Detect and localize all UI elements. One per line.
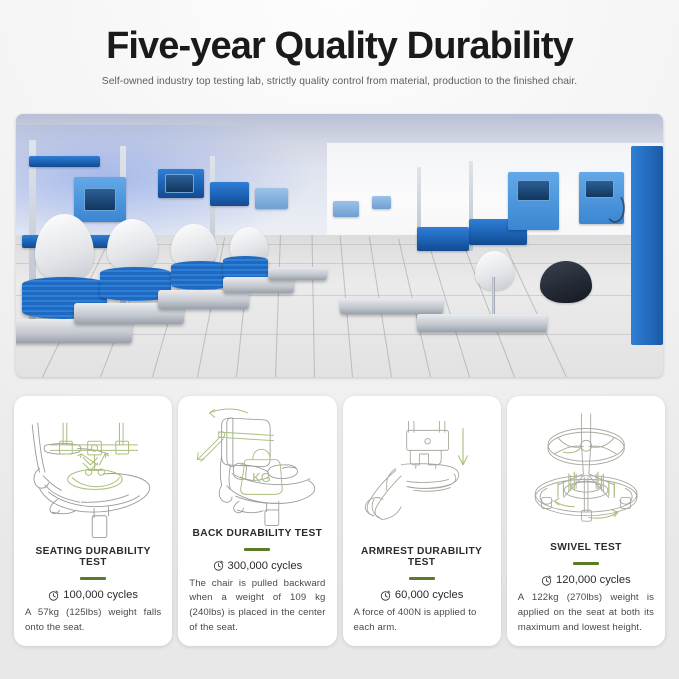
machine-column <box>631 146 663 346</box>
clock-icon <box>48 590 59 601</box>
machine-base-plate <box>158 290 249 308</box>
background-equipment <box>333 201 359 217</box>
card-cycles-label: 60,000 cycles <box>395 589 463 601</box>
machine-base-plate <box>417 314 546 332</box>
card-divider <box>573 562 599 565</box>
weight-kg-label: KG <box>252 470 271 485</box>
backrest-pull-test-illustration: KG <box>189 406 325 526</box>
card-cycles-label: 300,000 cycles <box>228 560 303 572</box>
card-seating-durability-test[interactable]: SEATING DURABILITY TEST 100,000 cycles A… <box>14 396 172 646</box>
card-title: SEATING DURABILITY TEST <box>25 546 161 568</box>
card-armrest-durability-test[interactable]: ARMREST DURABILITY TEST 60,000 cycles A … <box>343 396 501 646</box>
testing-lab-photo <box>16 114 663 377</box>
swivel-base-rotation-test-illustration <box>518 406 654 540</box>
card-description: A 57kg (125lbs) weight falls onto the se… <box>25 606 161 636</box>
test-machine <box>255 188 287 209</box>
clock-icon <box>213 560 224 571</box>
seat-press-test-illustration <box>25 406 161 544</box>
background-equipment <box>372 196 391 209</box>
test-machine <box>210 182 249 206</box>
card-cycles: 120,000 cycles <box>541 574 631 586</box>
clock-icon <box>541 575 552 586</box>
test-machine <box>29 156 100 167</box>
card-title: SWIVEL TEST <box>550 542 622 553</box>
card-cycles: 300,000 cycles <box>213 560 303 572</box>
armrest-press-test-illustration <box>354 406 490 544</box>
test-chair <box>35 214 93 282</box>
card-title: ARMREST DURABILITY TEST <box>354 546 490 568</box>
clock-icon <box>380 590 391 601</box>
card-cycles: 100,000 cycles <box>48 589 138 601</box>
cable-hose <box>605 193 625 223</box>
page-title: Five-year Quality Durability <box>24 26 655 68</box>
weight-drum <box>171 261 229 290</box>
card-description: The chair is pulled backward when a weig… <box>189 577 325 636</box>
page-header: Five-year Quality Durability Self-owned … <box>0 0 679 87</box>
card-title: BACK DURABILITY TEST <box>193 528 323 539</box>
test-chair <box>540 261 592 303</box>
card-divider <box>409 577 435 581</box>
card-cycles-label: 100,000 cycles <box>63 589 138 601</box>
machine-base-plate <box>268 267 326 280</box>
card-cycles-label: 120,000 cycles <box>556 574 631 586</box>
machine-base-plate <box>340 298 444 314</box>
machine-screen <box>165 174 194 192</box>
test-machine <box>417 227 469 251</box>
page-subtitle: Self-owned industry top testing lab, str… <box>24 76 655 87</box>
testing-lab-photo-scene <box>16 114 663 377</box>
card-description: A 122kg (270lbs) weight is applied on th… <box>518 591 654 636</box>
card-divider <box>244 548 270 551</box>
machine-screen <box>84 188 116 212</box>
machine-screen <box>517 180 549 201</box>
durability-test-cards: SEATING DURABILITY TEST 100,000 cycles A… <box>14 396 665 646</box>
card-description: A force of 400N is applied to each arm. <box>354 606 490 636</box>
card-back-durability-test[interactable]: KG BACK DURABILITY TEST 300,000 cycles T… <box>178 396 336 646</box>
card-cycles: 60,000 cycles <box>380 589 463 601</box>
card-divider <box>80 577 106 581</box>
card-swivel-test[interactable]: SWIVEL TEST 120,000 cycles A 122kg (270l… <box>507 396 665 646</box>
